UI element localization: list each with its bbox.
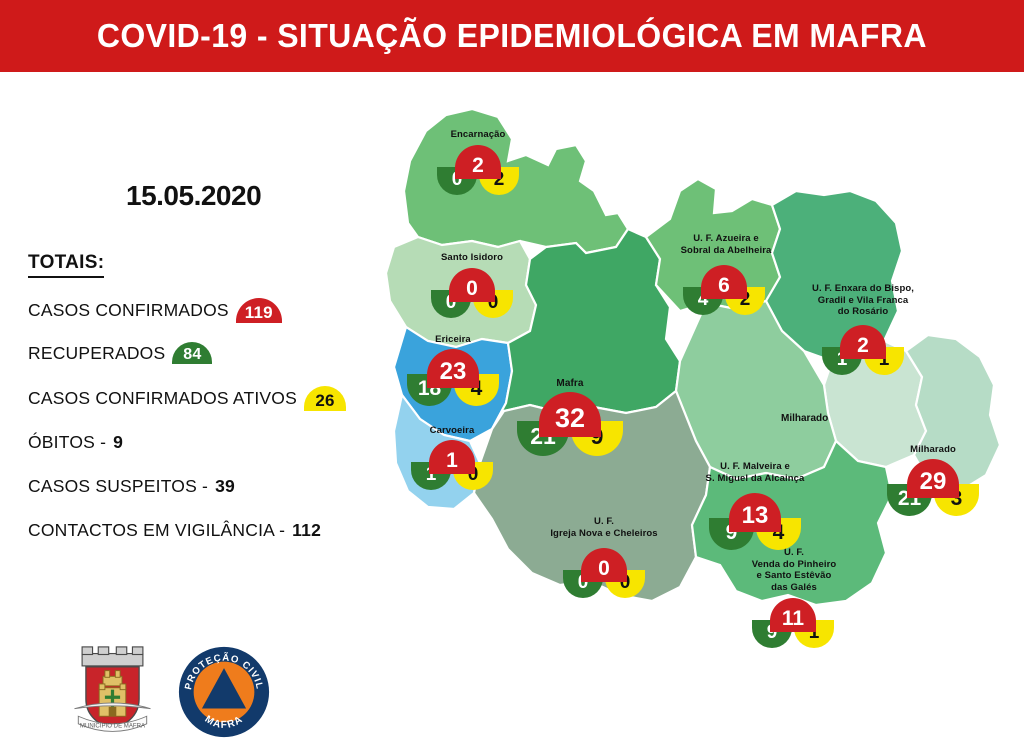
marker-label-igreja-nova-cheleiros: U. F. Igreja Nova e Cheleiros <box>504 516 704 539</box>
marker-label-milharado: Milharado <box>868 444 998 456</box>
totals-panel: 15.05.2020 TOTAIS: CASOS CONFIRMADOS 119… <box>0 72 390 724</box>
protecao-civil-mafra-logo: PROTEÇÃO CIVIL MAFRA <box>178 646 270 738</box>
marker-ericeira[interactable]: 23 18 4 <box>407 349 499 403</box>
marker-label-venda-pinheiro-gales: U. F. Venda do Pinheiro e Santo Estêvão … <box>704 547 884 593</box>
marker-label-ericeira: Ericeira <box>388 334 518 346</box>
marker-confirmed: 2 <box>455 145 501 179</box>
stat-contactos-vigilancia: CONTACTOS EM VIGILÂNCIA - 112 <box>28 520 321 541</box>
marker-santo-isidoro[interactable]: 0 0 0 <box>431 268 513 316</box>
stat-casos-confirmados: CASOS CONFIRMADOS 119 <box>28 298 282 323</box>
marker-confirmed: 11 <box>770 598 816 632</box>
marker-venda-pinheiro-gales[interactable]: 11 9 1 <box>752 598 834 646</box>
stat-value-badge: 84 <box>172 342 212 364</box>
marker-label-encarnacao: Encarnação <box>408 129 548 141</box>
mafra-municipality-map: Milharado Encarnação 2 0 2 Santo Isidoro… <box>380 95 1024 695</box>
logos-group: MUNICÍPIO DE MAFRA PROTEÇÃO CIVIL MAFRA <box>60 640 270 745</box>
stat-value: 39 <box>215 476 235 497</box>
stat-label: CASOS CONFIRMADOS ATIVOS <box>28 388 297 409</box>
marker-label-enxara-gradil-vilafranca: U. F. Enxara do Bispo, Gradil e Vila Fra… <box>763 283 963 318</box>
marker-milharado[interactable]: 29 21 3 <box>887 459 979 513</box>
marker-confirmed: 1 <box>429 440 475 474</box>
marker-confirmed: 6 <box>701 265 747 299</box>
municipio-de-mafra-logo: MUNICÍPIO DE MAFRA <box>65 640 160 745</box>
report-date: 15.05.2020 <box>126 180 261 212</box>
stat-recuperados: RECUPERADOS 84 <box>28 342 212 364</box>
stat-value-badge: 26 <box>304 386 346 411</box>
marker-label-azueira-sobral: U. F. Azueira e Sobral da Abelheira <box>633 233 819 256</box>
marker-carvoeira[interactable]: 1 1 0 <box>411 440 493 488</box>
stat-label: RECUPERADOS <box>28 343 165 364</box>
stat-obitos: ÓBITOS - 9 <box>28 432 123 453</box>
marker-mafra[interactable]: 32 21 9 <box>517 392 623 453</box>
marker-confirmed: 23 <box>427 349 479 388</box>
stat-label: CASOS SUSPEITOS - <box>28 476 208 497</box>
stat-label: CONTACTOS EM VIGILÂNCIA - <box>28 520 285 541</box>
marker-label-carvoeira: Carvoeira <box>386 425 518 437</box>
page-header: COVID-19 - SITUAÇÃO EPIDEMIOLÓGICA EM MA… <box>0 0 1024 72</box>
marker-label-santo-isidoro: Santo Isidoro <box>392 252 552 264</box>
marker-igreja-nova-cheleiros[interactable]: 0 0 0 <box>563 548 645 596</box>
marker-confirmed: 13 <box>729 493 781 532</box>
marker-confirmed: 0 <box>581 548 627 582</box>
page-title: COVID-19 - SITUAÇÃO EPIDEMIOLÓGICA EM MA… <box>97 17 927 55</box>
marker-enxara-gradil-vilafranca[interactable]: 2 1 1 <box>822 325 904 373</box>
stat-value: 112 <box>292 520 321 541</box>
map-region-label-milharado: Milharado <box>781 413 828 424</box>
totals-heading: TOTAIS: <box>28 252 104 278</box>
stat-label: ÓBITOS - <box>28 432 106 453</box>
stat-label: CASOS CONFIRMADOS <box>28 300 229 321</box>
marker-label-mafra: Mafra <box>505 378 635 390</box>
marker-confirmed: 29 <box>907 459 959 498</box>
stat-casos-suspeitos: CASOS SUSPEITOS - 39 <box>28 476 235 497</box>
marker-confirmed: 0 <box>449 268 495 302</box>
marker-confirmed: 32 <box>539 392 601 437</box>
stat-casos-ativos: CASOS CONFIRMADOS ATIVOS 26 <box>28 386 346 411</box>
marker-encarnacao[interactable]: 2 0 2 <box>437 145 519 193</box>
marker-azueira-sobral[interactable]: 6 4 2 <box>683 265 765 313</box>
stat-value-badge: 119 <box>236 298 282 323</box>
marker-malveira-alcainca[interactable]: 13 9 4 <box>709 493 801 547</box>
marker-label-malveira-alcainca: U. F. Malveira e S. Miguel da Alcainça <box>658 461 852 484</box>
stat-value: 9 <box>113 432 123 453</box>
marker-confirmed: 2 <box>840 325 886 359</box>
